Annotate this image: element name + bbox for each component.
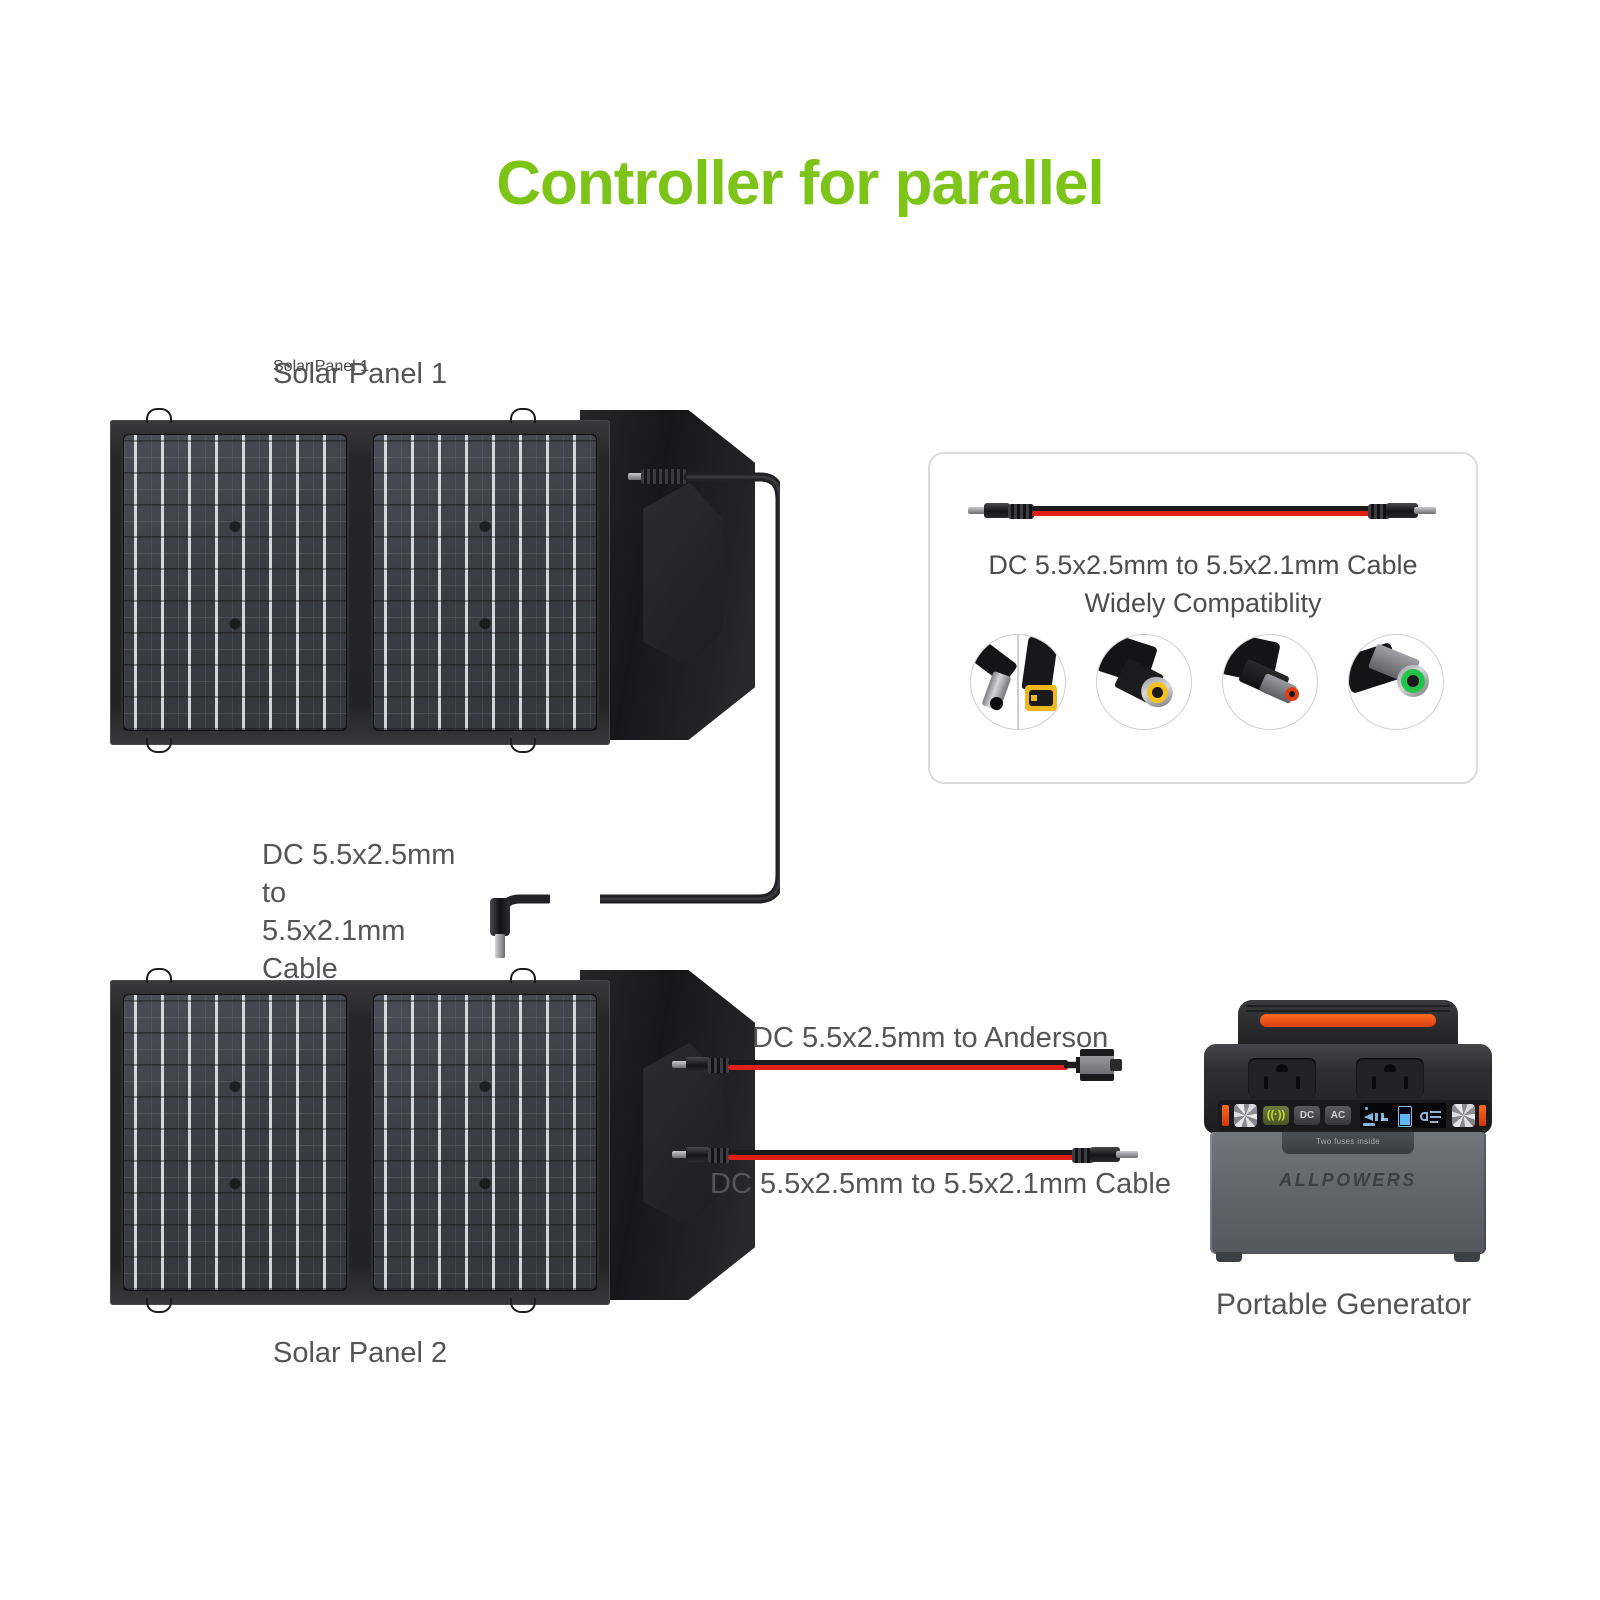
generator-foot-left (1216, 1252, 1242, 1262)
vent-fan-icon-left (1234, 1104, 1257, 1127)
panel-1-frame (110, 420, 610, 745)
vent-fan-icon-right (1452, 1104, 1475, 1127)
anderson-cable (672, 1050, 1142, 1080)
dc-button[interactable]: DC (1294, 1106, 1320, 1125)
ac-button[interactable]: AC (1325, 1106, 1351, 1125)
fuse-access-panel: Two fuses inside (1282, 1132, 1414, 1154)
link-cable-path (600, 455, 780, 935)
compatibility-info-box: DC 5.5x2.5mm to 5.5x2.1mm Cable Widely C… (928, 452, 1478, 784)
indicator-strip-left (1222, 1105, 1229, 1126)
sample-dc-cable (968, 496, 1436, 526)
indicator-strip-right (1479, 1105, 1486, 1126)
dc-to-dc-cable (672, 1140, 1142, 1170)
fuse-panel-text: Two fuses inside (1282, 1137, 1414, 1146)
generator-brand-logo: ALLPOWERS (1210, 1170, 1486, 1191)
dc-cable-label: DC 5.5x2.5mm to 5.5x2.1mm Cable (710, 1168, 1171, 1201)
link-cable-label-line1: DC 5.5x2.5mm to (262, 836, 482, 912)
link-cable-plug-to-panel-2 (487, 898, 513, 960)
panel-2-cell-array-right (371, 992, 599, 1293)
panel-2-hanger-loop-br (510, 1298, 536, 1313)
panel-2-hanger-loop-bl (146, 1298, 172, 1313)
ac-outlet-left[interactable] (1248, 1058, 1316, 1098)
connector-green-ring-barrel-plug (1348, 634, 1444, 730)
panel-1-hanger-loop-br (510, 738, 536, 753)
link-cable-label: DC 5.5x2.5mm to 5.5x2.1mm Cable (262, 836, 482, 988)
page-title: Controller for parallel (0, 148, 1600, 219)
battery-icon (1398, 1106, 1412, 1127)
panel-1-hanger-loop-tr (510, 408, 536, 423)
solar-panel-2-label: Solar Panel 2 (273, 1337, 447, 1370)
portable-generator-label: Portable Generator (1216, 1288, 1471, 1322)
link-cable-label-line2: 5.5x2.1mm Cable (262, 912, 482, 988)
panel-2-frame (110, 980, 610, 1305)
panel-1-cell-array-right (371, 432, 599, 733)
compat-line-1: DC 5.5x2.5mm to 5.5x2.1mm Cable (930, 550, 1476, 581)
ac-outlet-right[interactable] (1356, 1058, 1424, 1098)
connector-yellow-ring-barrel-plug (1096, 634, 1192, 730)
connector-barrel-and-lenovo-square-plug (970, 634, 1066, 730)
panel-2-cell-array-left (121, 992, 349, 1293)
lcd-display (1360, 1103, 1446, 1128)
panel-2-hanger-loop-tr (510, 968, 536, 983)
panel-1-hanger-loop-bl (146, 738, 172, 753)
generator-foot-right (1454, 1252, 1480, 1262)
generator-body: Two fuses inside ALLPOWERS (1210, 1132, 1486, 1254)
compat-line-2: Widely Compatiblity (930, 588, 1476, 619)
panel-2-hanger-loop-tl (146, 968, 172, 983)
light-button[interactable]: ((·)) (1263, 1106, 1289, 1125)
panel-1-hanger-loop-tl (146, 408, 172, 423)
connector-red-center-barrel-plug (1222, 634, 1318, 730)
generator-top-deck: ((·)) DC AC (1204, 1044, 1492, 1134)
panel-1-cell-array-left (121, 432, 349, 733)
handle-orange-grip (1260, 1014, 1436, 1027)
solar-panel-1-label-text: Solar Panel 1 (273, 358, 447, 391)
generator-control-panel: ((·)) DC AC (1218, 1100, 1490, 1130)
portable-generator[interactable]: ((·)) DC AC Two fuses inside (1198, 1000, 1498, 1280)
